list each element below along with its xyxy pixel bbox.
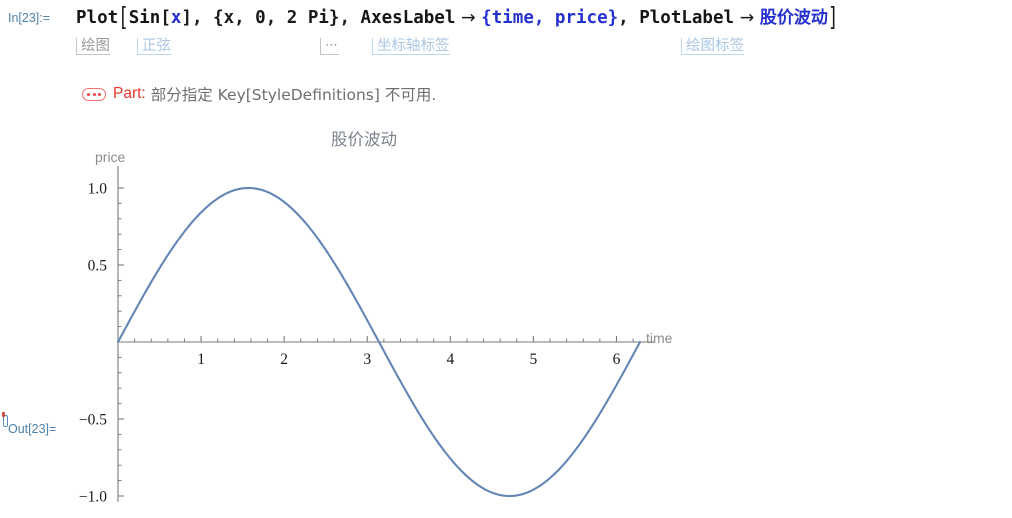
svg-text:1: 1: [197, 351, 205, 368]
cell-bracket-marker[interactable]: [3, 415, 8, 427]
code-token-axeslabel-value: {time, price}: [481, 8, 618, 28]
code-token-sin-open: [: [160, 8, 171, 28]
code-token-sin: Sin: [129, 8, 161, 28]
code-token-plot: Plot: [76, 8, 118, 28]
code-token-sin-close: ]: [181, 8, 192, 28]
svg-text:5: 5: [530, 351, 538, 368]
svg-text:−1.0: −1.0: [79, 489, 107, 506]
hint-axeslabel[interactable]: 坐标轴标签: [372, 38, 450, 55]
svg-text:3: 3: [363, 351, 371, 368]
svg-text:0.5: 0.5: [88, 258, 108, 275]
plot-tick-labels: 123456−1.0−0.50.51.0: [79, 181, 621, 506]
error-text: 部分指定 Key[StyleDefinitions] 不可用.: [151, 83, 437, 105]
code-token-arrow1: →: [455, 8, 481, 28]
out-prompt-label: Out[23]=: [8, 422, 56, 436]
svg-text:2: 2: [280, 351, 288, 368]
code-token-open-bracket: [: [118, 0, 129, 37]
code-token-comma1: ,: [192, 8, 213, 28]
code-expression[interactable]: Plot[Sin[x], {x, 0, 2 Pi}, AxesLabel → {…: [76, 5, 838, 31]
input-cell[interactable]: In[23]:= Plot[Sin[x], {x, 0, 2 Pi}, Axes…: [0, 0, 1012, 68]
hint-ellipsis[interactable]: ⋯: [320, 38, 339, 55]
code-token-comma3: ,: [618, 8, 639, 28]
error-dots-icon[interactable]: [82, 88, 106, 101]
hint-plot[interactable]: 绘图: [76, 38, 110, 55]
hint-sin[interactable]: 正弦: [137, 38, 171, 55]
output-cell: Out[23]= 股价波动 price time 123456−1.0−0.50…: [0, 118, 1012, 518]
code-token-plotlabel-value: 股价波动: [760, 8, 828, 28]
error-tag: Part:: [113, 85, 146, 103]
code-token-range: {x, 0, 2 Pi}: [213, 8, 339, 28]
plot-graphic[interactable]: 股价波动 price time 123456−1.0−0.50.51.0: [76, 118, 696, 514]
error-message-cell: Part: 部分指定 Key[StyleDefinitions] 不可用.: [82, 82, 436, 106]
sine-plot-svg: 123456−1.0−0.50.51.0: [76, 118, 696, 514]
code-token-x-arg: x: [171, 8, 182, 28]
code-token-arrow2: →: [734, 8, 760, 28]
svg-text:1.0: 1.0: [88, 181, 108, 198]
svg-text:−0.5: −0.5: [79, 412, 107, 429]
code-token-axeslabel: AxesLabel: [361, 8, 456, 28]
svg-text:4: 4: [446, 351, 454, 368]
code-token-plotlabel: PlotLabel: [639, 8, 734, 28]
hint-plotlabel[interactable]: 绘图标签: [681, 38, 744, 55]
in-prompt-label: In[23]:=: [8, 11, 50, 25]
svg-text:6: 6: [613, 351, 621, 368]
code-token-comma2: ,: [339, 8, 360, 28]
code-token-close-bracket: ]: [828, 0, 839, 37]
